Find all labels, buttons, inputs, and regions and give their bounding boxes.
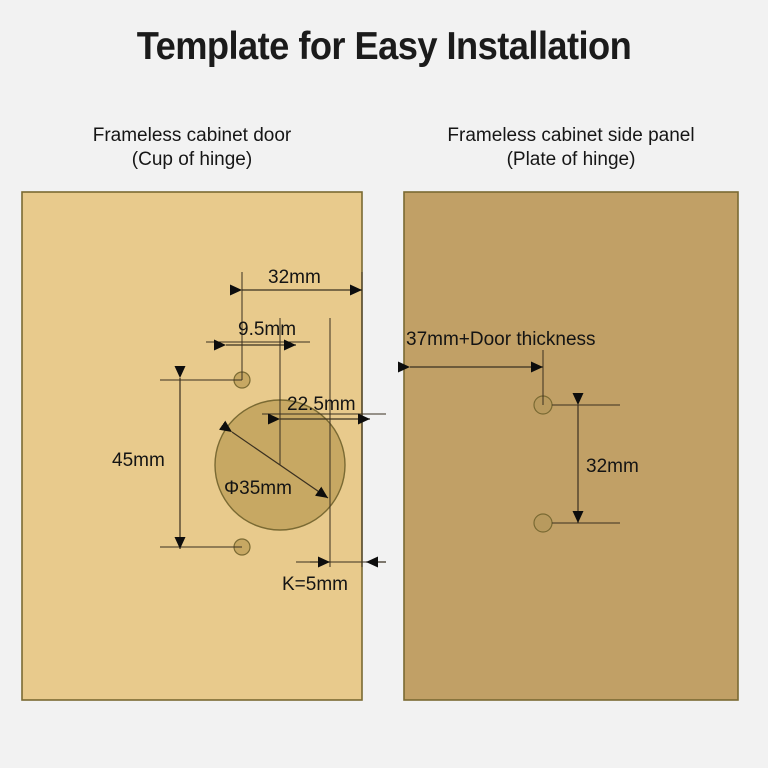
dim-22_5mm-label: 22.5mm — [287, 394, 356, 415]
template-page: Template for Easy Installation Frameless… — [0, 0, 768, 768]
dim-k5mm-label: K=5mm — [282, 574, 348, 595]
installation-template-diagram: 32mm 9.5mm 22.5mm 45mm Φ35mm — [0, 0, 768, 768]
dim-45mm-label: 45mm — [112, 450, 165, 471]
dim-37mm-door-thickness-label: 37mm+Door thickness — [406, 329, 596, 350]
plate-screw-hole-bottom — [534, 514, 552, 532]
right-panel-group: 37mm+Door thickness 32mm — [404, 192, 738, 700]
dim-diameter-label: Φ35mm — [224, 478, 292, 499]
dim-9_5mm-label: 9.5mm — [238, 319, 296, 340]
dim-32mm-left-label: 32mm — [268, 267, 321, 288]
left-panel-group: 32mm 9.5mm 22.5mm 45mm Φ35mm — [22, 192, 386, 700]
dim-32mm-right-label: 32mm — [586, 456, 639, 477]
right-panel-board — [404, 192, 738, 700]
